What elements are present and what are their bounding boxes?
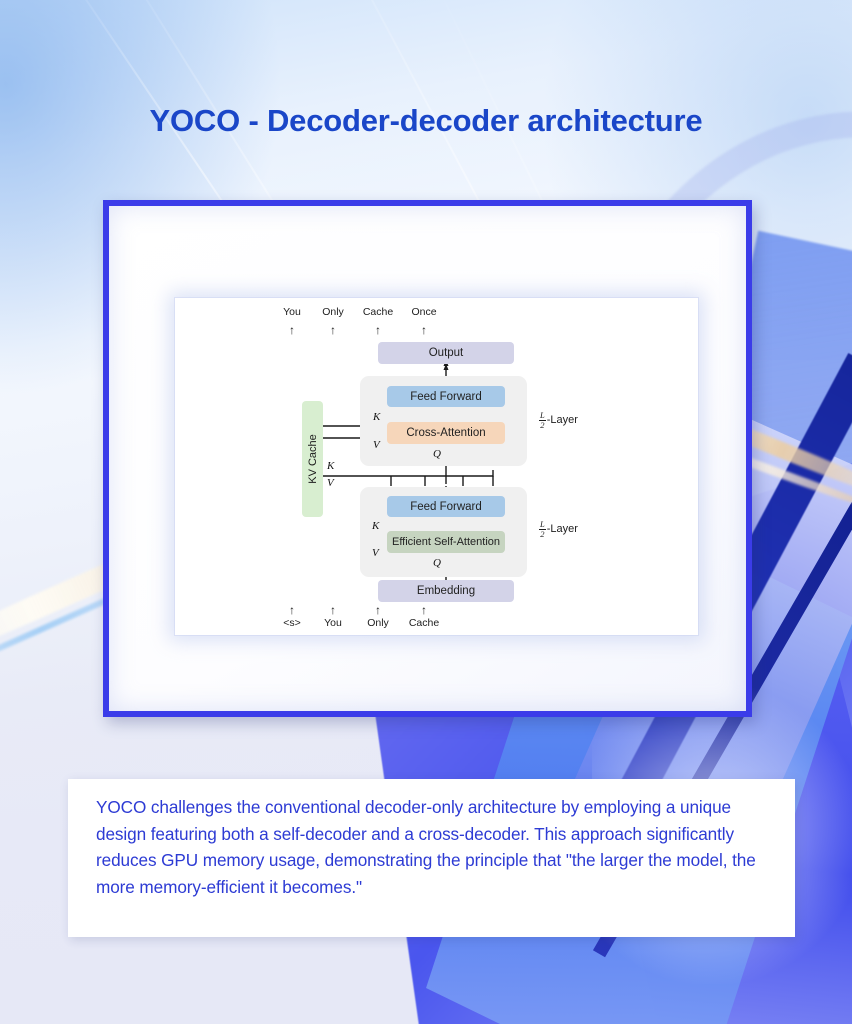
output-arrow-0: ↑: [269, 323, 315, 337]
label-cross-k: K: [373, 411, 380, 423]
kv-cache-box: KV Cache: [302, 401, 323, 517]
output-token-0: You: [269, 306, 315, 318]
output-arrow-2: ↑: [352, 323, 404, 337]
figure-card: You Only Cache Once ↑ ↑ ↑ ↑ Output Feed …: [103, 200, 752, 717]
label-cache-out-v: V: [327, 477, 334, 489]
slide-title: YOCO - Decoder-decoder architecture: [0, 103, 852, 139]
label-cross-q: Q: [433, 448, 441, 460]
input-token-1: You: [310, 617, 356, 629]
box-self-feed-forward: Feed Forward: [387, 496, 505, 517]
output-token-1: Only: [310, 306, 356, 318]
output-arrow-1: ↑: [310, 323, 356, 337]
box-embedding: Embedding: [378, 580, 514, 602]
layer-label-cross: L 2 -Layer: [539, 411, 578, 429]
kv-cache-label: KV Cache: [307, 434, 319, 484]
caption-card: YOCO challenges the conventional decoder…: [68, 779, 795, 937]
layer-suffix-self: -Layer: [547, 523, 578, 535]
fraction-l-over-2-cross: L 2: [539, 411, 546, 429]
label-self-k: K: [372, 520, 379, 532]
output-token-3: Once: [399, 306, 449, 318]
label-self-q: Q: [433, 557, 441, 569]
input-arrow-0: ↑: [269, 603, 315, 617]
output-token-2: Cache: [352, 306, 404, 318]
box-efficient-self-attention: Efficient Self-Attention: [387, 531, 505, 553]
box-output: Output: [378, 342, 514, 364]
slide-canvas: YOCO - Decoder-decoder architecture: [0, 0, 852, 1024]
input-arrow-3: ↑: [399, 603, 449, 617]
input-arrow-2: ↑: [352, 603, 404, 617]
input-token-3: Cache: [399, 617, 449, 629]
output-arrow-3: ↑: [399, 323, 449, 337]
label-self-v: V: [372, 547, 379, 559]
input-arrow-1: ↑: [310, 603, 356, 617]
box-cross-attention: Cross-Attention: [387, 422, 505, 444]
label-cache-out-k: K: [327, 460, 334, 472]
fraction-l-over-2-self: L 2: [539, 520, 546, 538]
input-token-0: <s>: [269, 617, 315, 629]
layer-suffix-cross: -Layer: [547, 414, 578, 426]
layer-label-self: L 2 -Layer: [539, 520, 578, 538]
input-token-2: Only: [352, 617, 404, 629]
box-cross-feed-forward: Feed Forward: [387, 386, 505, 407]
label-cross-v: V: [373, 439, 380, 451]
diagram-panel: You Only Cache Once ↑ ↑ ↑ ↑ Output Feed …: [175, 298, 698, 635]
yoco-architecture-diagram: You Only Cache Once ↑ ↑ ↑ ↑ Output Feed …: [175, 298, 698, 635]
caption-text: YOCO challenges the conventional decoder…: [96, 794, 772, 901]
